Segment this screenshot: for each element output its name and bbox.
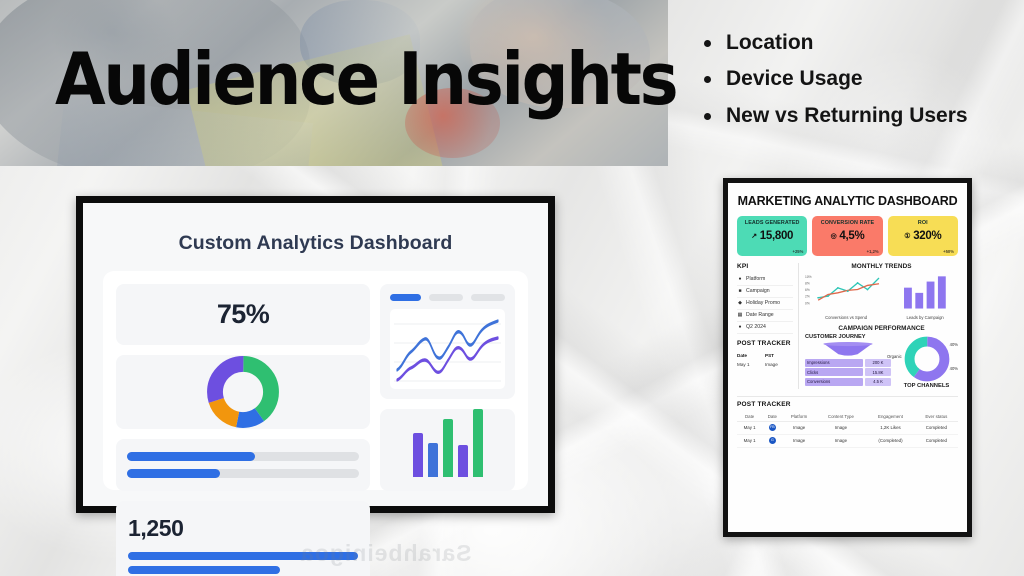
cell-status: Completed <box>915 434 958 447</box>
tab-pill-3[interactable] <box>471 294 505 301</box>
left-dashboard-right-column: 75% <box>116 284 370 491</box>
funnel-label-impressions: Impressions <box>805 359 863 367</box>
col-platform: Platform <box>783 412 816 422</box>
line-series-b <box>397 338 498 380</box>
pts-cell-date: May 1 <box>737 362 765 367</box>
count-bar-1 <box>128 552 358 560</box>
trend-line-chart: 10% 8% 6% 2% 0% <box>805 272 887 312</box>
progress-bars-panel <box>116 439 370 491</box>
trend-bar-caption: Leads by Campaign <box>892 315 958 320</box>
cell-engagement: 1,2K Likes <box>866 421 915 434</box>
campaign-performance-row: CUSTOMER JOURNEY Impressions 200 K Click… <box>805 334 958 389</box>
bar-chart-panel <box>380 409 515 491</box>
progress-track-2 <box>127 469 359 478</box>
cell-platform: Image <box>783 421 816 434</box>
funnel-value-conversions: 4.5 K <box>865 378 891 386</box>
tag-icon: ◆ <box>737 300 743 306</box>
funnel-value-impressions: 200 K <box>865 359 891 367</box>
bar-3 <box>443 419 453 477</box>
post-tracker-small-heading: POST TRACKER <box>737 340 793 347</box>
kpi-item-quarter-label: Q2 2024 <box>746 324 766 330</box>
channel-label-bottom: 40% <box>950 366 958 371</box>
leads-bar-1 <box>904 287 912 308</box>
count-stat-panel: 1,250 <box>116 501 370 576</box>
kpi-item-holiday-promo[interactable]: ◆ Holiday Promo <box>737 298 793 310</box>
post-tracker-small-header-row: Date PST <box>737 351 793 360</box>
post-tracker-table-section: POST TRACKER Date Date Platform Content … <box>737 396 958 448</box>
pts-col-pst: PST <box>765 353 793 358</box>
cell-platform-badge: FB <box>762 421 782 434</box>
monthly-trends-charts: 10% 8% 6% 2% 0% <box>805 272 958 320</box>
col-date-1: Date <box>737 412 762 422</box>
calendar-icon: ▦ <box>737 312 743 318</box>
kpi-leads-main: ↗ 15,800 <box>741 230 803 242</box>
col-engagement: Engagement <box>866 412 915 422</box>
dollar-icon: ① <box>904 232 910 240</box>
target-icon: ◎ <box>831 232 837 240</box>
progress-fill-2 <box>127 469 220 478</box>
funnel-label-conversions: Conversions <box>805 378 863 386</box>
kpi-filter-sidebar: KPI ● Platform ■ Campaign ◆ Holiday Prom… <box>737 263 799 389</box>
col-content-type: Content Type <box>816 412 867 422</box>
percent-stat-value: 75% <box>217 299 269 330</box>
kpi-item-holiday-promo-label: Holiday Promo <box>746 300 780 306</box>
top-channels-caption: TOP CHANNELS <box>895 383 958 389</box>
bar-5 <box>473 409 483 477</box>
kpi-conversion-value: 4,5% <box>839 230 864 242</box>
leads-bar-3 <box>927 281 935 308</box>
tab-pill-2[interactable] <box>429 294 463 301</box>
kpi-roi-main: ① 320% <box>892 230 954 242</box>
kpi-card-conversion-rate[interactable]: CONVERSION RATE ◎ 4,5% +1,2% <box>812 216 882 256</box>
kpi-item-quarter[interactable]: ● Q2 2024 <box>737 322 793 334</box>
page-title: Audience Insights <box>55 44 676 116</box>
post-tracker-table: Date Date Platform Content Type Engageme… <box>737 412 958 448</box>
bullet-item-device-usage: Device Usage <box>700 66 1020 92</box>
line-chart-svg <box>394 312 501 386</box>
kpi-item-campaign[interactable]: ■ Campaign <box>737 286 793 298</box>
left-dashboard-body: 75% <box>103 271 528 490</box>
channel-label-top: 40% <box>950 342 958 347</box>
bar-1 <box>413 433 423 477</box>
custom-analytics-dashboard-card: Custom Analytics Dashboard <box>76 196 555 513</box>
kpi-conversion-main: ◎ 4,5% <box>816 230 878 242</box>
trend-up-icon: ↗ <box>751 232 757 240</box>
cell-status: Completed <box>915 421 958 434</box>
cell-date-1: May 1 <box>737 421 762 434</box>
funnel-row-clicks: Clicks 15.8K <box>805 368 891 376</box>
channel-label-organic: Organic <box>887 354 902 359</box>
trend-bar-wrap: Leads by Campaign <box>892 272 958 320</box>
ytick-2: 2% <box>805 295 810 299</box>
kpi-roi-value: 320% <box>913 230 941 242</box>
donut-chart-svg <box>206 355 280 429</box>
facebook-icon: FB <box>769 424 776 431</box>
left-dashboard-title: Custom Analytics Dashboard <box>83 232 548 255</box>
ytick-0: 0% <box>805 301 810 305</box>
kpi-leads-label: LEADS GENERATED <box>741 220 803 226</box>
kpi-section-heading: KPI <box>737 263 793 270</box>
top-channels-donut <box>904 336 950 382</box>
customer-journey-heading: CUSTOMER JOURNEY <box>805 334 891 340</box>
middle-row: KPI ● Platform ■ Campaign ◆ Holiday Prom… <box>737 263 958 389</box>
table-row[interactable]: May 1 FB Image Image 1,2K Likes Complete… <box>737 421 958 434</box>
person-icon: ● <box>737 276 743 282</box>
line-chart <box>390 309 505 389</box>
trends-column: MONTHLY TRENDS 10% 8% 6% 2% 0% <box>805 263 958 389</box>
col-date-2: Date <box>762 412 782 422</box>
kpi-roi-label: ROI <box>892 220 954 226</box>
pts-cell-type: Image <box>765 362 793 367</box>
funnel-row-impressions: Impressions 200 K <box>805 359 891 367</box>
count-stat-value: 1,250 <box>128 515 358 542</box>
campaign-performance-heading: CAMPAIGN PERFORMANCE <box>805 325 958 332</box>
kpi-item-platform[interactable]: ● Platform <box>737 274 793 286</box>
count-bar-2 <box>128 566 280 574</box>
funnel-row-conversions: Conversions 4.5 K <box>805 378 891 386</box>
monthly-trends-heading: MONTHLY TRENDS <box>805 263 958 270</box>
kpi-leads-delta: +25% <box>793 249 804 254</box>
progress-track-1 <box>127 452 359 461</box>
megaphone-icon: ■ <box>737 288 743 294</box>
kpi-conversion-label: CONVERSION RATE <box>816 220 878 226</box>
customer-journey-funnel: CUSTOMER JOURNEY Impressions 200 K Click… <box>805 334 891 389</box>
cell-date-1: May 1 <box>737 434 762 447</box>
insights-bullet-list: Location Device Usage New vs Returning U… <box>700 30 1020 139</box>
trend-line-wrap: 10% 8% 6% 2% 0% <box>805 272 887 320</box>
cell-content-type: Image <box>816 434 867 447</box>
kpi-conversion-delta: +1,2% <box>867 249 879 254</box>
donut-chart-panel <box>116 355 370 429</box>
slide-canvas: Audience Insights Location Device Usage … <box>0 0 1024 576</box>
funnel-shape <box>805 342 891 357</box>
bullet-item-new-vs-returning: New vs Returning Users <box>700 103 1020 129</box>
line-chart-panel <box>380 284 515 399</box>
ytick-6: 6% <box>805 288 810 292</box>
kpi-card-roi[interactable]: ROI ① 320% +50% <box>888 216 958 256</box>
cell-platform-badge: G <box>762 434 782 447</box>
leads-bar-4 <box>938 276 946 308</box>
tab-pill-row <box>390 294 505 301</box>
ytick-8: 8% <box>805 281 810 285</box>
kpi-item-campaign-label: Campaign <box>746 288 770 294</box>
donut-slice-purple <box>215 364 271 420</box>
bar-2 <box>428 443 438 477</box>
funnel-top <box>823 342 872 346</box>
channel-slice-paid <box>909 341 944 376</box>
clock-icon: ● <box>737 324 743 330</box>
table-header-row: Date Date Platform Content Type Engageme… <box>737 412 958 422</box>
kpi-card-row: LEADS GENERATED ↗ 15,800 +25% CONVERSION… <box>737 216 958 256</box>
top-channels-chart: Organic 40% 40% TOP CHANNELS <box>895 334 958 389</box>
funnel-label-clicks: Clicks <box>805 368 863 376</box>
percent-stat-panel: 75% <box>116 284 370 345</box>
post-tracker-big-heading: POST TRACKER <box>737 401 958 408</box>
kpi-item-date-range-label: Date Range <box>746 312 774 318</box>
col-ever-status: Ever status <box>915 412 958 422</box>
cell-platform: Image <box>783 434 816 447</box>
bullet-item-location: Location <box>700 30 1020 56</box>
post-tracker-small-row: May 1 Image <box>737 360 793 369</box>
kpi-leads-value: 15,800 <box>760 230 793 242</box>
leads-by-campaign-chart <box>892 272 958 312</box>
cell-engagement: (Completed) <box>866 434 915 447</box>
bar-4 <box>458 445 468 477</box>
progress-fill-1 <box>127 452 255 461</box>
table-row[interactable]: May 1 G Image Image (Completed) Complete… <box>737 434 958 447</box>
tab-pill-active[interactable] <box>390 294 421 301</box>
kpi-item-platform-label: Platform <box>746 276 765 282</box>
trend-line-caption: Conversions vs Spend <box>805 315 887 320</box>
right-dashboard-title: MARKETING ANALYTIC DASHBOARD <box>737 194 958 209</box>
post-tracker-small: POST TRACKER Date PST May 1 Image <box>737 340 793 369</box>
cell-content-type: Image <box>816 421 867 434</box>
kpi-roi-delta: +50% <box>943 249 954 254</box>
leads-bar-2 <box>916 293 924 309</box>
trend-y-axis-ticks: 10% 8% 6% 2% 0% <box>805 275 812 305</box>
kpi-item-date-range[interactable]: ▦ Date Range <box>737 310 793 322</box>
google-icon: G <box>769 437 776 444</box>
pts-col-date: Date <box>737 353 765 358</box>
kpi-card-leads-generated[interactable]: LEADS GENERATED ↗ 15,800 +25% <box>737 216 807 256</box>
marketing-analytic-dashboard-card: MARKETING ANALYTIC DASHBOARD LEADS GENER… <box>723 178 972 537</box>
ytick-10: 10% <box>805 275 812 279</box>
funnel-value-clicks: 15.8K <box>865 368 891 376</box>
